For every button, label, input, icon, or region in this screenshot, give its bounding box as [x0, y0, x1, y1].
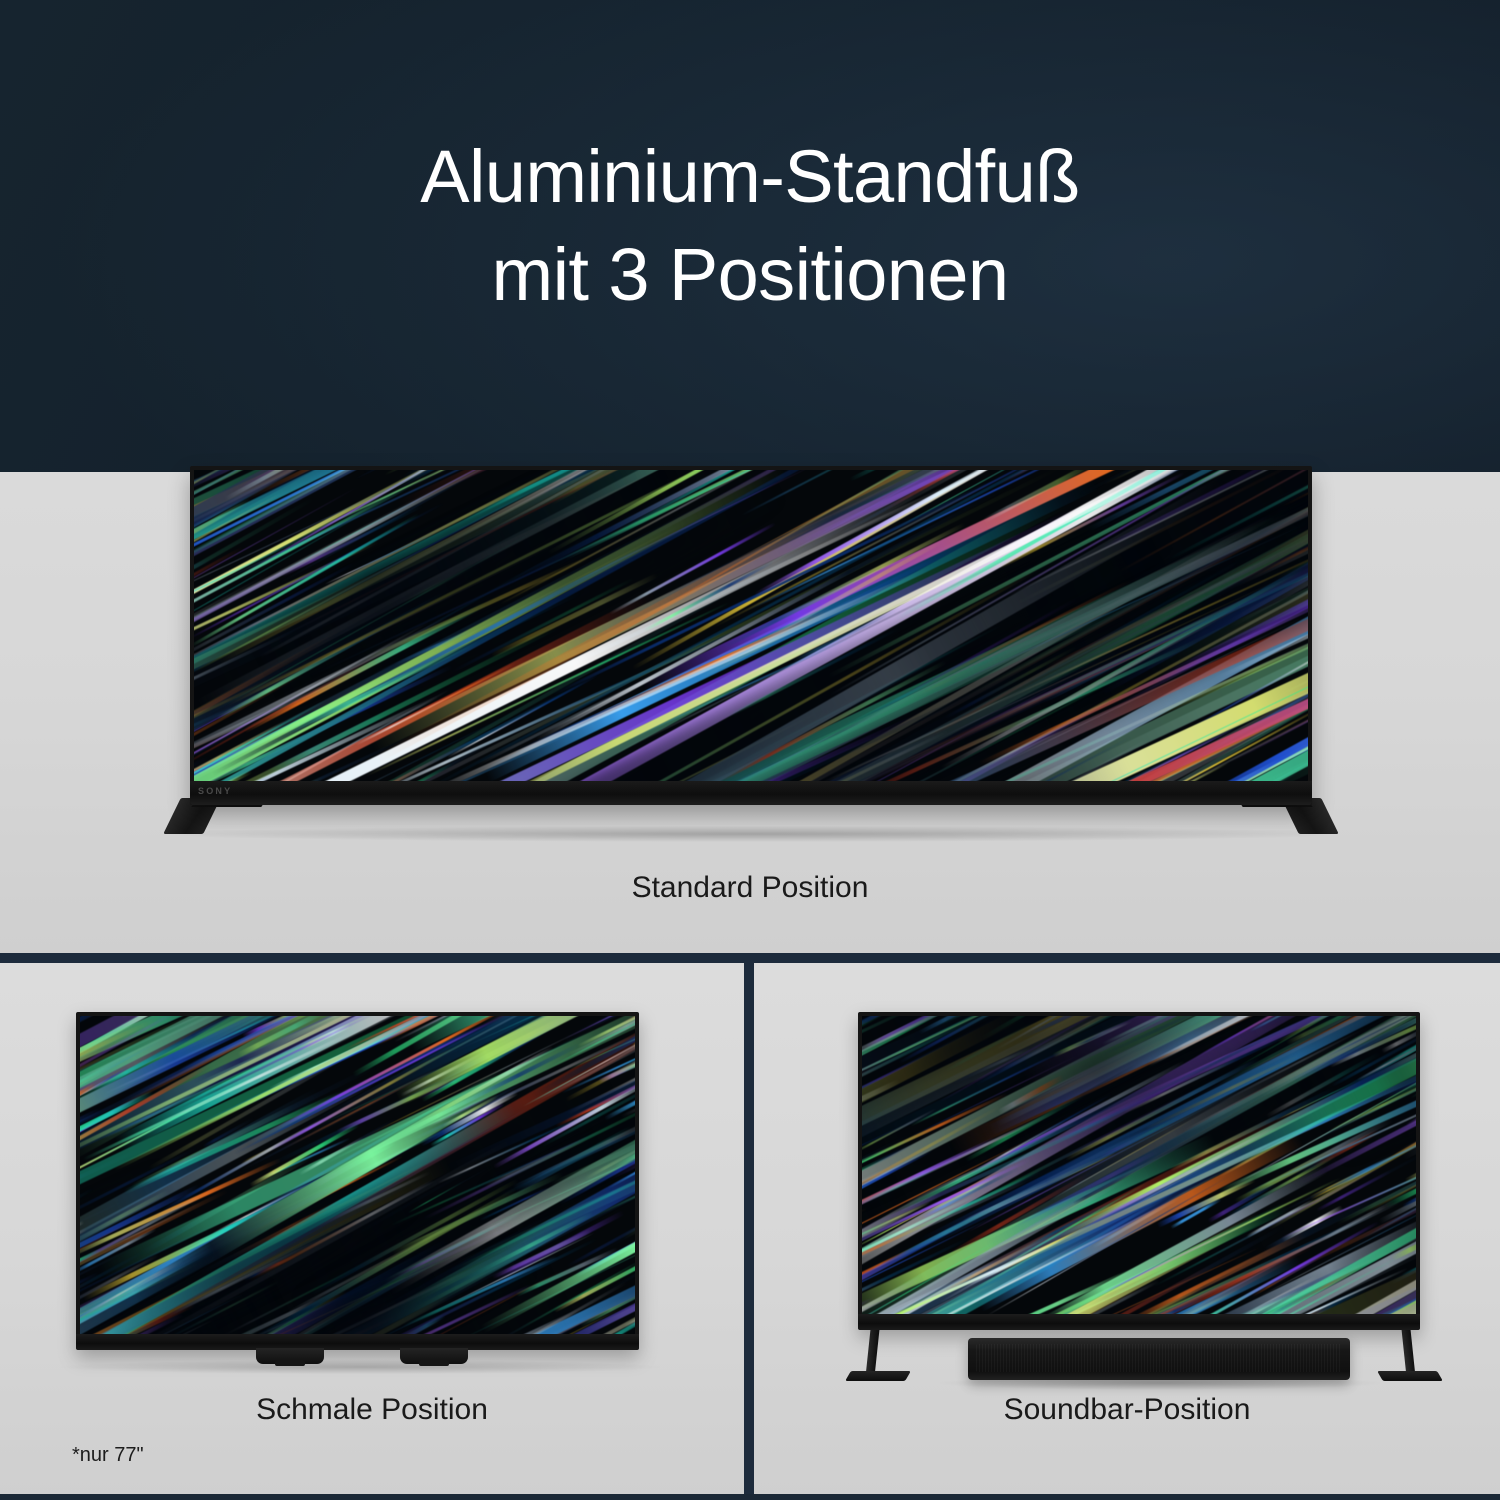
caption-narrow-position: Schmale Position — [0, 1393, 744, 1427]
tv-soundbar-screen — [862, 1016, 1416, 1314]
tv-standard-shadow — [160, 826, 1340, 842]
tv-standard-screen — [194, 470, 1308, 781]
stand-foot-left-soundbar — [845, 1371, 911, 1381]
soundbar-device — [968, 1338, 1350, 1380]
bottom-rule — [0, 1494, 1500, 1500]
sony-logo: SONY — [198, 786, 232, 796]
screen-artwork-narrow — [80, 1016, 635, 1334]
divider-horizontal — [0, 953, 1500, 963]
tv-standard-bezel: SONY — [190, 781, 1312, 805]
header-banner: Aluminium-Standfuß mit 3 Positionen — [0, 0, 1500, 472]
divider-vertical — [744, 963, 754, 1500]
caption-soundbar-position: Soundbar-Position — [754, 1393, 1500, 1427]
tv-narrow-bezel — [76, 1334, 639, 1350]
screen-artwork-standard — [194, 470, 1308, 781]
product-feature-graphic: Aluminium-Standfuß mit 3 Positionen SONY… — [0, 0, 1500, 1500]
stand-foot-right-narrow — [419, 1360, 449, 1366]
stand-foot-left-narrow — [275, 1360, 305, 1366]
screen-artwork-soundbar — [862, 1016, 1416, 1314]
stand-foot-right-soundbar — [1377, 1371, 1443, 1381]
caption-standard-position: Standard Position — [0, 871, 1500, 905]
tv-soundbar-bezel — [858, 1314, 1420, 1330]
tv-narrow-shadow — [60, 1360, 660, 1374]
footnote-narrow-position: *nur 77" — [72, 1444, 144, 1467]
soundbar-grille — [976, 1344, 1342, 1372]
page-title: Aluminium-Standfuß mit 3 Positionen — [0, 128, 1500, 325]
tv-narrow-screen — [80, 1016, 635, 1334]
